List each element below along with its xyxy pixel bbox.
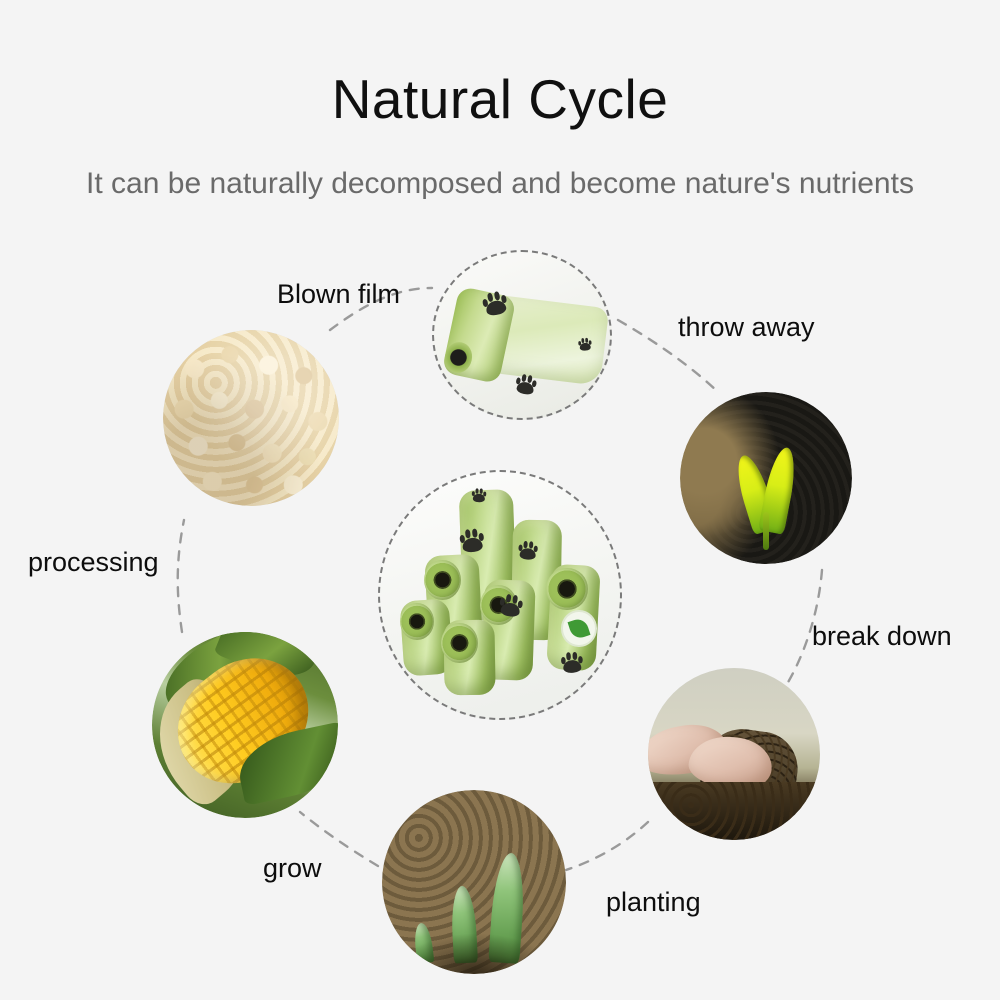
natural-cycle-diagram: Blown film throw away break down plantin… [0,0,1000,1000]
label-throw-away: throw away [678,314,815,341]
sprout-soil-image [680,392,852,564]
corn-field-image [152,632,338,818]
blown-film-ring [432,250,612,420]
hands-soil-image [648,668,820,840]
connector-hands-to-seedlings [566,822,648,870]
label-blown-film: Blown film [277,281,400,308]
pellets-image [163,330,339,506]
infographic-canvas: Natural Cycle It can be naturally decomp… [0,0,1000,1000]
seedlings-image [382,790,566,974]
node-throw-away[interactable] [680,392,852,564]
node-grow-corn[interactable] [152,632,338,818]
center-product-ring [378,470,622,720]
label-planting: planting [606,889,701,916]
node-planting[interactable] [648,668,820,840]
label-processing: processing [28,549,159,576]
node-seedlings[interactable] [382,790,566,974]
connector-corn-to-pellets [178,520,184,632]
label-grow: grow [263,855,322,882]
node-raw-material[interactable] [163,330,339,506]
label-break-down: break down [812,623,952,650]
